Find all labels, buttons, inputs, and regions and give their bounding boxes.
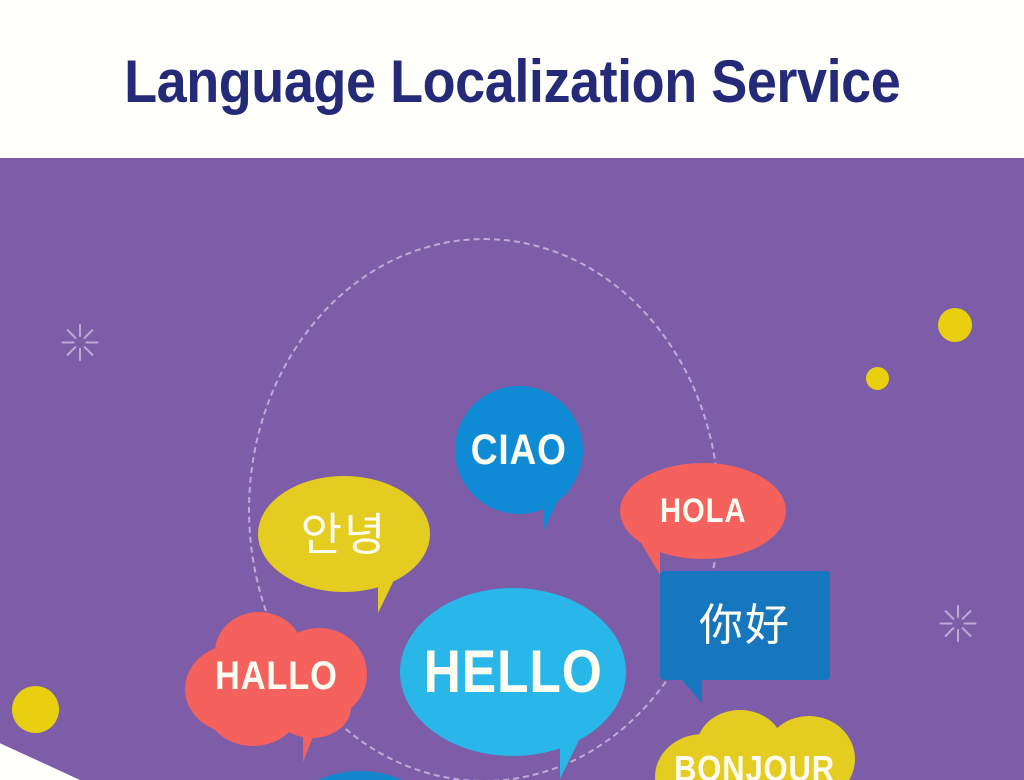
speech-bubble-bonjour[interactable]: BONJOUR <box>655 710 855 780</box>
dot-bottom-left-icon <box>12 686 59 733</box>
bubble-tail <box>543 492 569 532</box>
sparkle-left-icon <box>58 320 102 364</box>
speech-bubble-ciao[interactable]: CIAO <box>455 386 583 514</box>
header-banner: Language Localization Service <box>0 0 1024 158</box>
bubble-tail <box>378 568 404 613</box>
bubble-label: HOLA <box>660 494 746 528</box>
illustration-stage: CIAO HOLA 안녕 你好 HELLO <box>0 158 1024 780</box>
sparkle-right-icon <box>936 601 980 645</box>
bubble-label: CIAO <box>471 429 567 472</box>
bubble-tail <box>560 724 594 779</box>
bubble-label: 안녕 <box>301 512 388 557</box>
speech-bubble-hola[interactable]: HOLA <box>620 463 786 559</box>
speech-bubble-hallo[interactable]: HALLO <box>185 606 367 746</box>
bubble-tail <box>303 714 327 762</box>
bubble-tail <box>634 533 660 575</box>
poster-canvas: Language Localization Service <box>0 0 1024 780</box>
bubble-body <box>292 771 428 780</box>
bubble-label: HELLO <box>423 642 602 702</box>
page-title: Language Localization Service <box>124 52 900 112</box>
speech-bubble-annyeong[interactable]: 안녕 <box>258 476 430 592</box>
speech-bubble-hello[interactable]: HELLO <box>400 588 626 756</box>
bubble-tail <box>676 667 702 703</box>
bubble-label: BONJOUR <box>675 751 836 780</box>
speech-bubble-sawatdee[interactable]: สวัสดี <box>292 771 428 780</box>
bubble-label: 你好 <box>699 604 791 648</box>
bubble-label: HALLO <box>215 656 338 696</box>
dot-mid-right-icon <box>866 367 889 390</box>
speech-bubble-nihao[interactable]: 你好 <box>660 571 830 680</box>
dot-top-right-icon <box>938 308 972 342</box>
corner-wedge-bottom-left <box>0 734 80 780</box>
